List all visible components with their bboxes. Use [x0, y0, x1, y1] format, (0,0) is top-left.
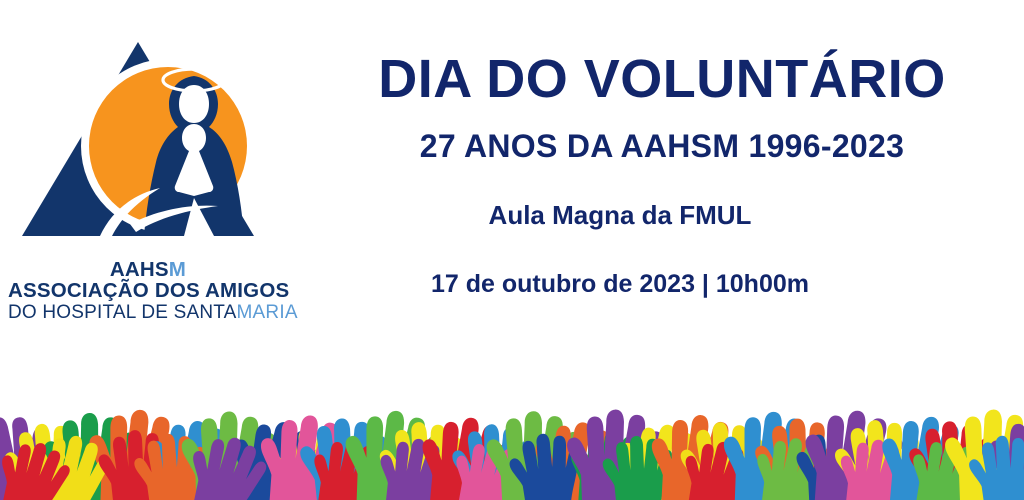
logo-wordmark: AAHSM ASSOCIAÇÃO DOS AMIGOS DO HOSPITAL … — [8, 260, 288, 322]
logo-acronym-primary: AAHS — [110, 258, 169, 281]
event-datetime: 17 de outubro de 2023 | 10h00m — [300, 270, 940, 299]
logo-tagline-line2-accent: MARIA — [237, 302, 298, 323]
logo-acronym: AAHSM — [8, 260, 288, 281]
aahsm-logo: AAHSM ASSOCIAÇÃO DOS AMIGOS DO HOSPITAL … — [8, 28, 288, 290]
logo-tagline-line1: ASSOCIAÇÃO DOS AMIGOS — [8, 281, 288, 302]
event-text-block: DIA DO VOLUNTÁRIO 27 ANOS DA AAHSM 1996-… — [300, 0, 1024, 330]
logo-acronym-accent: M — [169, 258, 186, 281]
logo-tagline-line2: DO HOSPITAL DE SANTAMARIA — [8, 303, 288, 322]
page-title: DIA DO VOLUNTÁRIO — [300, 48, 1024, 110]
event-venue: Aula Magna da FMUL — [300, 200, 940, 231]
hand-silhouettes — [0, 406, 1024, 500]
poster-canvas: AAHSM ASSOCIAÇÃO DOS AMIGOS DO HOSPITAL … — [0, 0, 1024, 500]
hands-border-svg — [0, 340, 1024, 500]
logo-tagline-line2-primary: DO HOSPITAL DE SANTA — [8, 302, 237, 323]
logo-mark-graphic — [8, 28, 288, 238]
hands-border-illustration — [0, 340, 1024, 500]
event-subtitle: 27 ANOS DA AAHSM 1996-2023 — [300, 128, 1024, 165]
